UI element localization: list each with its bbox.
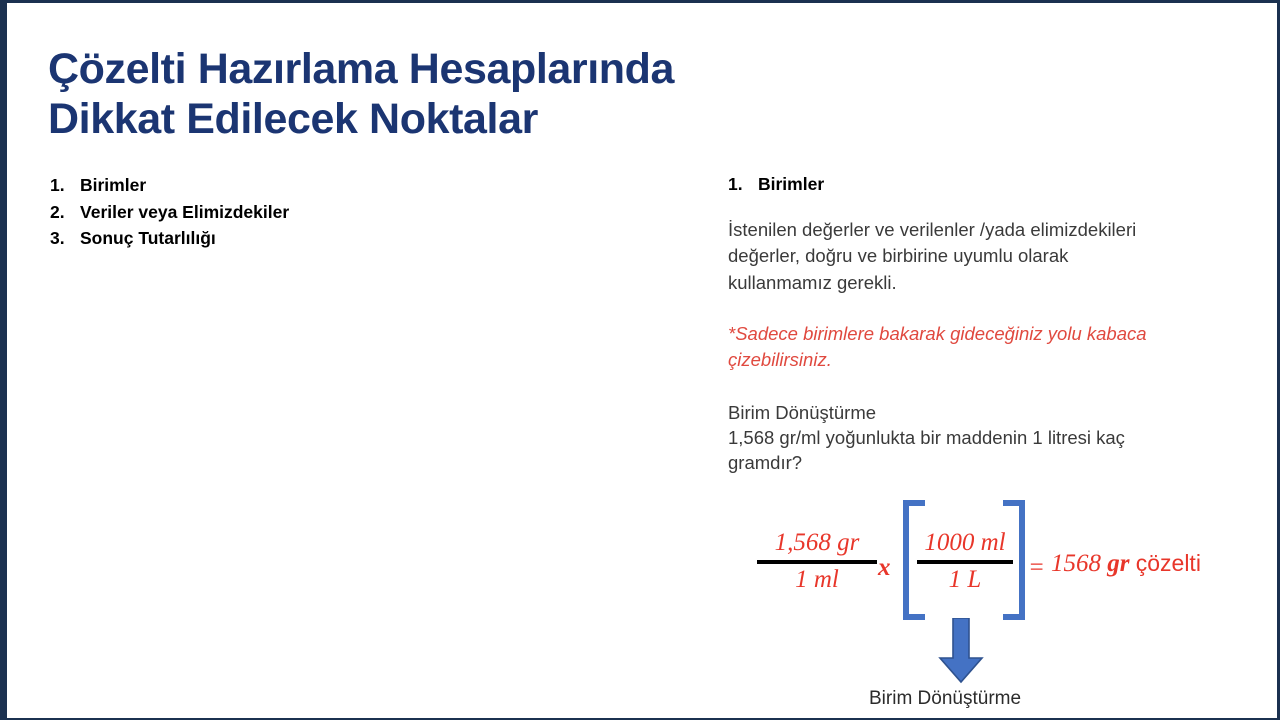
multiplication-operator: x bbox=[878, 554, 891, 582]
slide-border-top bbox=[0, 0, 1280, 3]
conversion-subheading: Birim Dönüştürme bbox=[728, 401, 1198, 426]
down-arrow-icon bbox=[938, 618, 984, 684]
conversion-fraction: 1000 ml 1 L bbox=[917, 530, 1013, 594]
fraction-bar bbox=[917, 560, 1013, 564]
list-item: 2. Veriler veya Elimizdekiler bbox=[50, 199, 570, 226]
detail-note: *Sadece birimlere bakarak gideceğiniz yo… bbox=[728, 321, 1158, 374]
equals-sign: = bbox=[1028, 554, 1045, 582]
list-item-label: Veriler veya Elimizdekiler bbox=[80, 199, 289, 226]
conversion-denominator: 1 L bbox=[917, 567, 1013, 593]
detail-paragraph: İstenilen değerler ve verilenler /yada e… bbox=[728, 217, 1158, 296]
agenda-list: 1. Birimler 2. Veriler veya Elimizdekile… bbox=[50, 172, 570, 252]
density-numerator: 1,568 gr bbox=[757, 530, 877, 556]
list-item-number: 3. bbox=[50, 225, 80, 252]
conversion-block: Birim Dönüştürme 1,568 gr/ml yoğunlukta … bbox=[728, 401, 1198, 475]
page-title-line-1: Çözelti Hazırlama Hesaplarında bbox=[48, 44, 868, 94]
equation-result: 1568 gr çözelti bbox=[1051, 550, 1201, 578]
detail-heading: 1. Birimler bbox=[728, 174, 1228, 195]
conversion-question: 1,568 gr/ml yoğunlukta bir maddenin 1 li… bbox=[728, 426, 1198, 475]
conversion-equation: 1,568 gr 1 ml x 1000 ml 1 L = 1568 gr çö… bbox=[745, 498, 1245, 623]
conversion-numerator: 1000 ml bbox=[917, 530, 1013, 556]
list-item: 1. Birimler bbox=[50, 172, 570, 199]
slide-border-left bbox=[0, 0, 7, 720]
list-item-number: 1. bbox=[50, 172, 80, 199]
list-item: 3. Sonuç Tutarlılığı bbox=[50, 225, 570, 252]
list-item-number: 2. bbox=[50, 199, 80, 226]
result-unit: gr bbox=[1107, 550, 1129, 577]
fraction-bar bbox=[757, 560, 877, 564]
result-value: 1568 bbox=[1051, 550, 1101, 577]
result-word: çözelti bbox=[1136, 550, 1201, 576]
bracketed-conversion-factor: 1000 ml 1 L bbox=[903, 500, 1025, 620]
slide-canvas: Çözelti Hazırlama Hesaplarında Dikkat Ed… bbox=[0, 0, 1280, 720]
page-title: Çözelti Hazırlama Hesaplarında Dikkat Ed… bbox=[48, 44, 868, 145]
density-fraction: 1,568 gr 1 ml bbox=[757, 530, 877, 594]
detail-heading-number: 1. bbox=[728, 174, 758, 195]
arrow-caption: Birim Dönüştürme bbox=[869, 688, 1021, 710]
page-title-line-2: Dikkat Edilecek Noktalar bbox=[48, 94, 868, 144]
list-item-label: Birimler bbox=[80, 172, 146, 199]
detail-column: 1. Birimler İstenilen değerler ve verile… bbox=[728, 174, 1228, 475]
detail-heading-label: Birimler bbox=[758, 174, 824, 195]
density-denominator: 1 ml bbox=[757, 567, 877, 593]
list-item-label: Sonuç Tutarlılığı bbox=[80, 225, 216, 252]
